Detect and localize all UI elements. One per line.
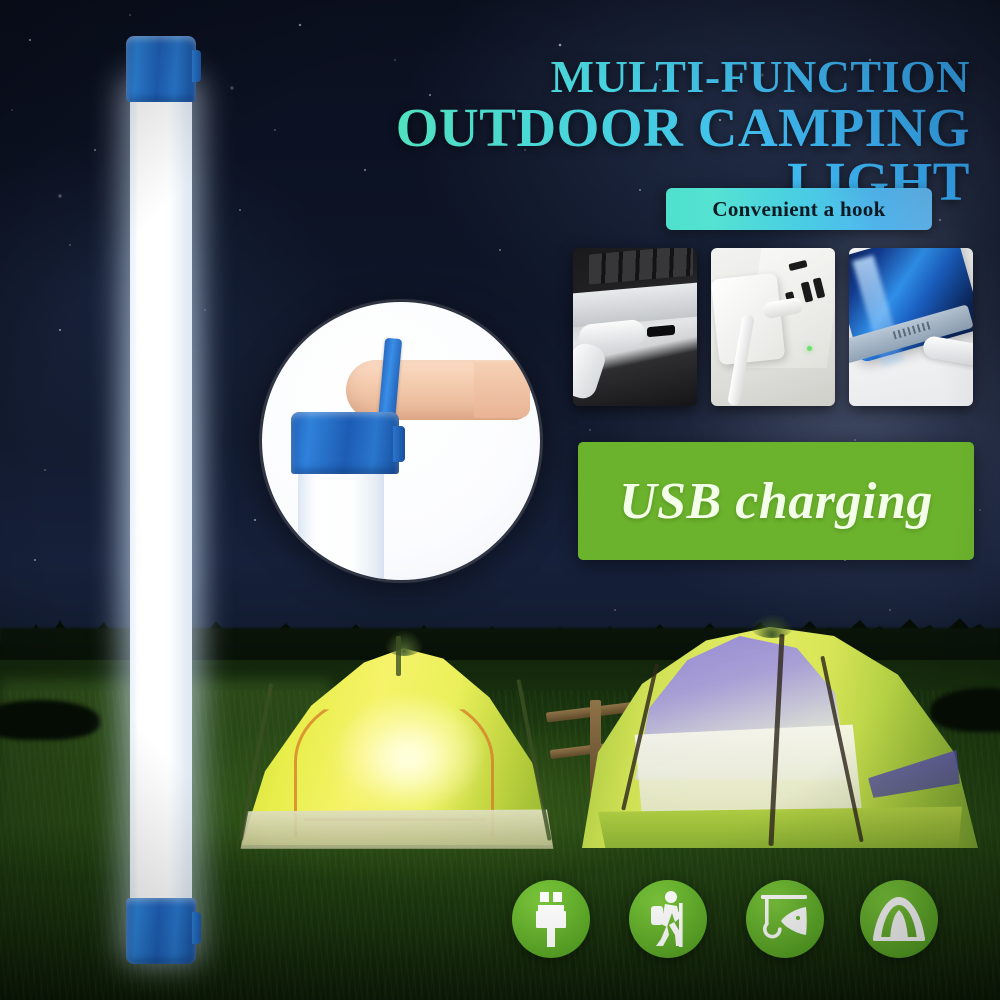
- hook-badge-label: Convenient a hook: [712, 197, 885, 222]
- fishing-hook-fish-icon: [759, 893, 811, 945]
- phone-charging-photo: [849, 248, 973, 406]
- usb-charging-banner: USB charging: [578, 442, 974, 560]
- usb-charging-label: USB charging: [619, 472, 933, 531]
- inset-lamp-body: [298, 464, 384, 580]
- laptop-usb-port-photo: [573, 248, 697, 406]
- poster-headline: MULTI-FUNCTION OUTDOOR CAMPING LIGHT: [270, 54, 970, 209]
- hook-closeup-inset: [262, 302, 540, 580]
- led-tube-lamp: [122, 26, 200, 974]
- finger-illustration: [346, 360, 528, 420]
- feature-hiking: [629, 880, 707, 958]
- yellow-tent-peak: [384, 630, 424, 656]
- lamp-cap-top: [126, 36, 196, 102]
- feature-usb: [512, 880, 590, 958]
- lamp-highlight: [138, 96, 151, 946]
- wall-adapter-power-strip-photo: [711, 248, 835, 406]
- feature-icon-row: [512, 880, 962, 976]
- convenient-hook-badge: Convenient a hook: [666, 188, 932, 230]
- green-tent-window: [630, 720, 862, 812]
- feature-fishing: [746, 880, 824, 958]
- charging-photo-strip: [573, 248, 973, 406]
- feature-camping: [860, 880, 938, 958]
- usb-plug-icon: [528, 891, 574, 947]
- green-tent-peak: [750, 614, 794, 638]
- dome-tent-icon: [872, 896, 926, 942]
- headline-line-1: MULTI-FUNCTION: [270, 54, 970, 99]
- green-purple-tent: [578, 608, 978, 870]
- inset-lamp-cap: [291, 412, 399, 474]
- product-poster: MULTI-FUNCTION OUTDOOR CAMPING LIGHT Con…: [0, 0, 1000, 1000]
- yellow-tent-skirt: [234, 807, 560, 849]
- hiker-backpack-icon: [643, 891, 693, 947]
- yellow-tent: [232, 622, 562, 872]
- lamp-cap-bottom: [126, 898, 196, 964]
- inset-lamp-cap-nub: [393, 426, 405, 462]
